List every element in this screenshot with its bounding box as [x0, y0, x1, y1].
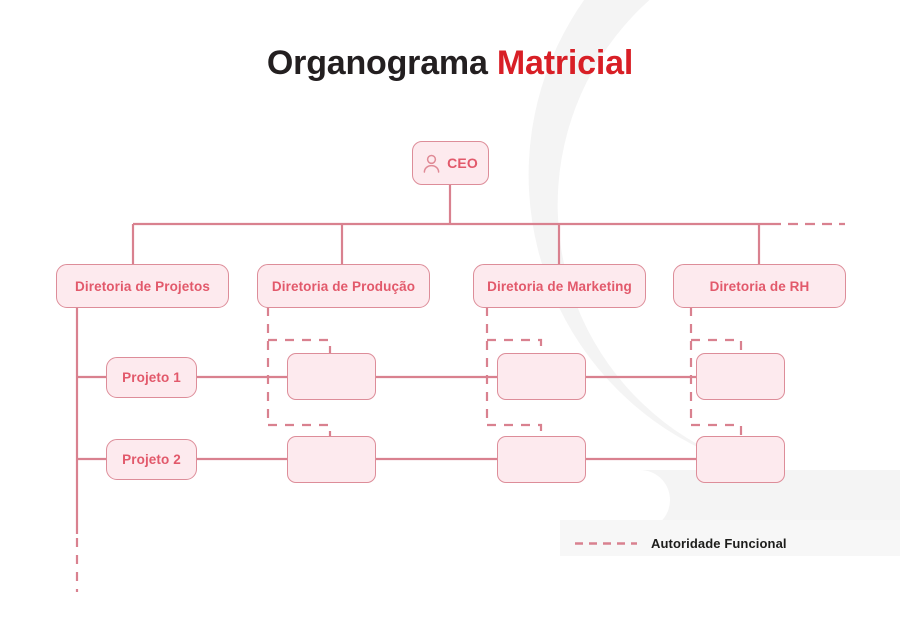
wire-func-marketing-row2 [487, 425, 541, 436]
matrix-cell-projeto2-marketing[interactable] [497, 436, 586, 483]
node-diretoria-de-producao[interactable]: Diretoria de Produção [257, 264, 430, 308]
node-ceo[interactable]: CEO [412, 141, 489, 185]
node-label: Diretoria de Produção [272, 279, 415, 294]
dashed-line-icon [575, 542, 637, 545]
node-diretoria-de-projetos[interactable]: Diretoria de Projetos [56, 264, 229, 308]
node-label: Projeto 2 [122, 452, 181, 467]
node-label: Diretoria de Marketing [487, 279, 632, 294]
matrix-cell-projeto2-producao[interactable] [287, 436, 376, 483]
person-icon [423, 154, 440, 173]
wire-func-producao-row1 [268, 340, 330, 353]
legend-item-label: Autoridade Funcional [651, 536, 787, 551]
organogram-canvas: Organograma Matricial [0, 0, 900, 626]
node-label: Diretoria de RH [710, 279, 810, 294]
node-diretoria-de-rh[interactable]: Diretoria de RH [673, 264, 846, 308]
matrix-cell-projeto1-rh[interactable] [696, 353, 785, 400]
node-projeto-1[interactable]: Projeto 1 [106, 357, 197, 398]
connector-lines [0, 0, 900, 626]
wire-func-marketing-row1 [487, 340, 541, 353]
matrix-cell-projeto1-marketing[interactable] [497, 353, 586, 400]
matrix-cell-projeto2-rh[interactable] [696, 436, 785, 483]
wire-func-rh-row2 [691, 425, 741, 436]
matrix-cell-projeto1-producao[interactable] [287, 353, 376, 400]
wire-func-rh-row1 [691, 340, 741, 353]
legend: Autoridade Funcional [575, 536, 787, 551]
node-label: Diretoria de Projetos [75, 279, 210, 294]
node-diretoria-de-marketing[interactable]: Diretoria de Marketing [473, 264, 646, 308]
node-ceo-label: CEO [447, 155, 478, 171]
node-label: Projeto 1 [122, 370, 181, 385]
wire-func-producao-row2 [268, 425, 330, 436]
node-projeto-2[interactable]: Projeto 2 [106, 439, 197, 480]
